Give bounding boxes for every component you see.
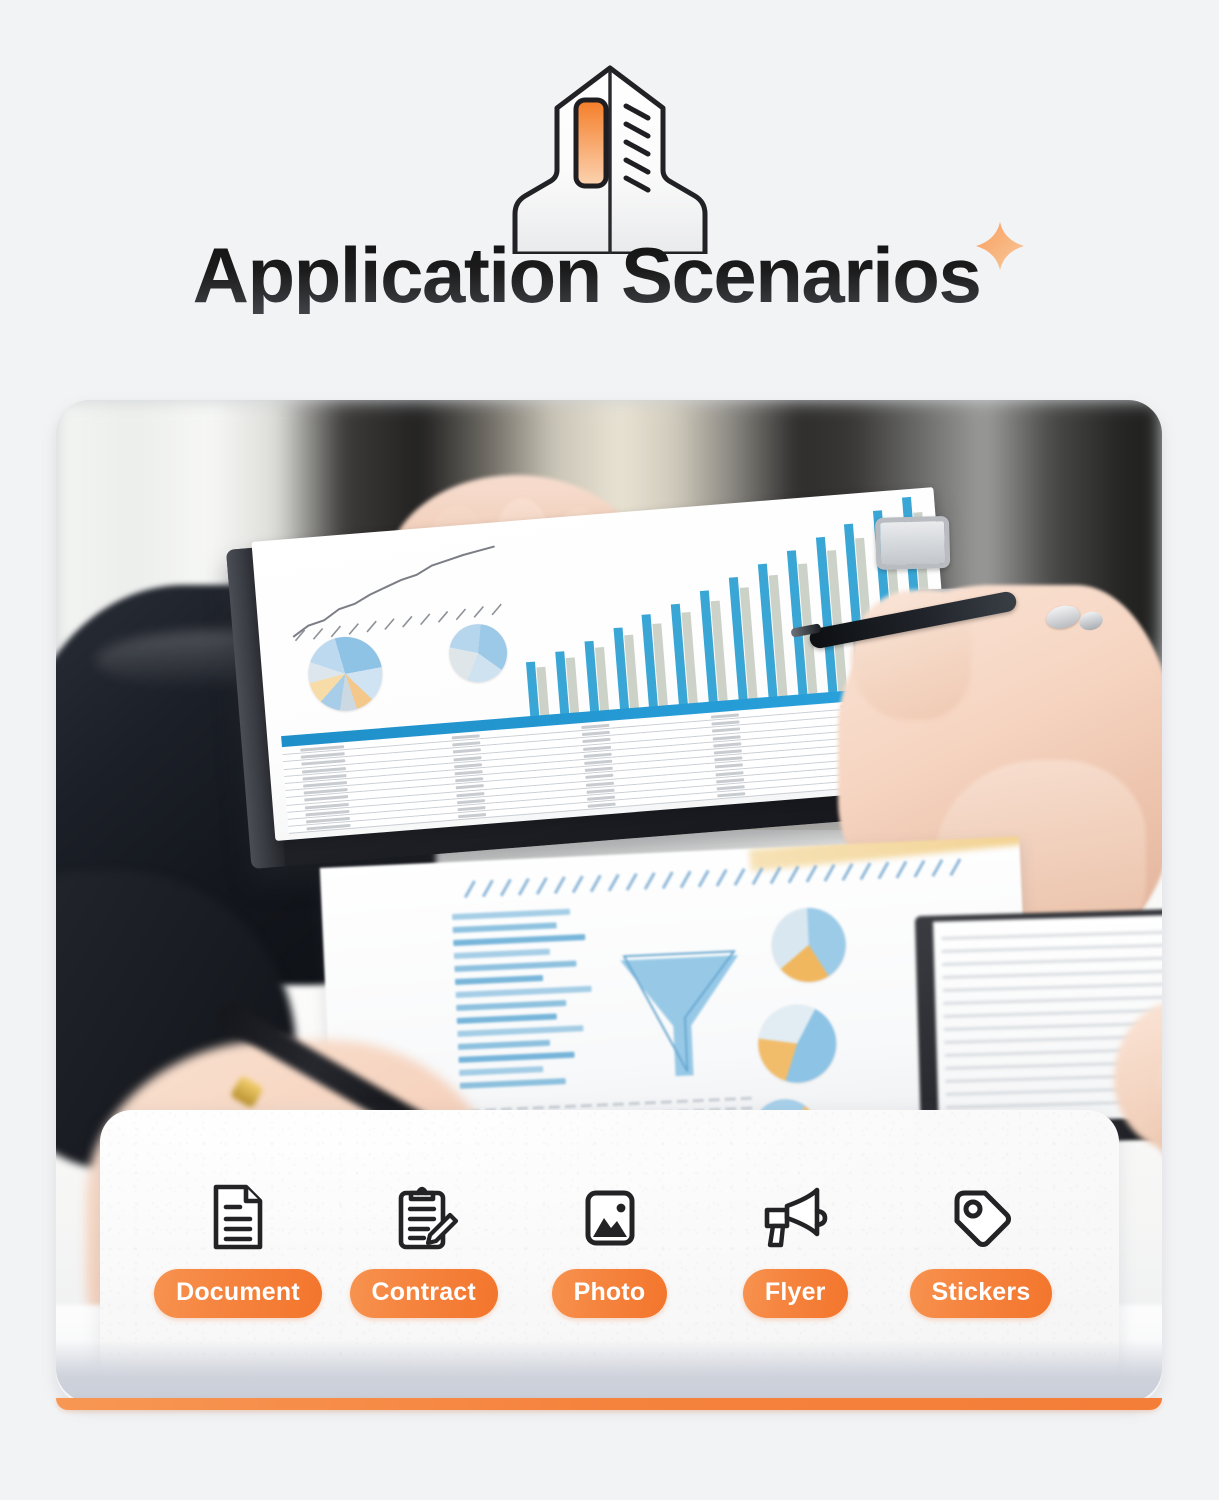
table-cell [717,785,745,790]
badge-label-flyer[interactable]: Flyer [743,1269,848,1318]
table-cell [714,756,742,761]
ruled-line [943,995,1162,1004]
table-cell [715,764,743,769]
table-cell [713,742,741,747]
badge-label-stickers[interactable]: Stickers [910,1269,1053,1318]
ruled-line [943,982,1162,991]
paper-pie-chart-1 [770,906,847,983]
paper-horizontal-bar-chart [452,908,600,1104]
paper-bar [458,1052,574,1063]
table-cell [307,824,351,831]
table-cell [457,799,485,804]
table-cell [583,745,611,750]
paper-bar [454,960,576,972]
title-row: Application Scenarios [0,236,1219,314]
paper-text-line [725,1097,736,1100]
badge-label-photo[interactable]: Photo [552,1269,668,1318]
paper-text-line [661,1100,672,1103]
paper-text-line [597,1103,608,1106]
paper-bar [459,1066,543,1076]
paper-text-line [613,1102,624,1105]
ruled-line [943,969,1162,978]
paper-bar [453,922,557,933]
page-title: Application Scenarios [193,236,981,314]
table-cell [584,753,612,758]
badge-item-flyer[interactable]: Flyer [703,1181,887,1318]
table-cell [582,738,610,743]
badge-label-document[interactable]: Document [154,1269,322,1318]
table-cell [456,784,484,789]
table-cell [717,792,745,797]
paper-text-line [693,1099,704,1102]
pie-chart-1 [305,634,385,714]
megaphone-icon [759,1181,831,1253]
table-cell [453,749,481,754]
paper-text-line [645,1101,656,1104]
paper-bar [453,934,585,946]
paper-text-line [709,1098,720,1101]
table-cell [715,771,743,776]
clipboard-clip [875,516,950,570]
ruled-line [944,1008,1162,1017]
table-cell [586,788,614,793]
paper-bar [455,975,543,985]
badge-item-document[interactable]: Document [146,1181,330,1318]
paper-bar [456,1000,566,1011]
document-page-icon [202,1181,274,1253]
laminator-building-icon [495,62,725,254]
table-cell [581,724,609,729]
table-cell [586,781,614,786]
table-cell [716,778,744,783]
paper-bar [457,1025,583,1037]
table-cell [711,713,739,718]
table-cell [456,792,484,797]
table-cell [453,756,481,761]
badge-item-photo[interactable]: Photo [518,1181,702,1318]
table-cell [585,767,613,772]
paper-text-line [565,1105,576,1108]
header-section: Application Scenarios [0,0,1219,392]
paper-bar [460,1078,566,1089]
badge-item-stickers[interactable]: Stickers [889,1181,1073,1318]
table-cell [585,774,613,779]
table-cell [584,760,612,765]
ruled-line [941,930,1162,939]
card-bottom-shade [56,1340,1162,1402]
table-cell [455,770,483,775]
paper-pie-chart-2 [757,1003,838,1084]
table-cell [455,777,483,782]
table-cell [711,721,739,726]
paper-funnel-chart [614,949,750,1085]
paper-bar [458,1040,550,1050]
ruled-line [942,956,1162,965]
table-cell [712,728,740,733]
image-picture-icon [574,1181,646,1253]
paper-bar [454,949,550,959]
ruled-line [942,943,1162,952]
orange-accent-bar [56,1398,1162,1410]
paper-tick-row [460,852,981,902]
sparkle-star-icon [974,220,1026,272]
price-tag-icon [945,1181,1017,1253]
table-cell [588,803,616,808]
paper-text-line [677,1100,688,1103]
paper-bar [452,909,570,920]
clipboard-pencil-icon [388,1181,460,1253]
paper-text-line [741,1097,752,1100]
table-cell [458,813,486,818]
paper-text-line [549,1105,560,1108]
table-cell [713,735,741,740]
table-cell [452,741,480,746]
badge-label-contract[interactable]: Contract [350,1269,498,1318]
paper-text-line [581,1104,592,1107]
paper-bar [456,986,592,998]
badge-item-contract[interactable]: Contract [332,1181,516,1318]
paper-bar [457,1013,557,1024]
table-cell [582,731,610,736]
table-cell [454,763,482,768]
paper-text-line [629,1102,640,1105]
